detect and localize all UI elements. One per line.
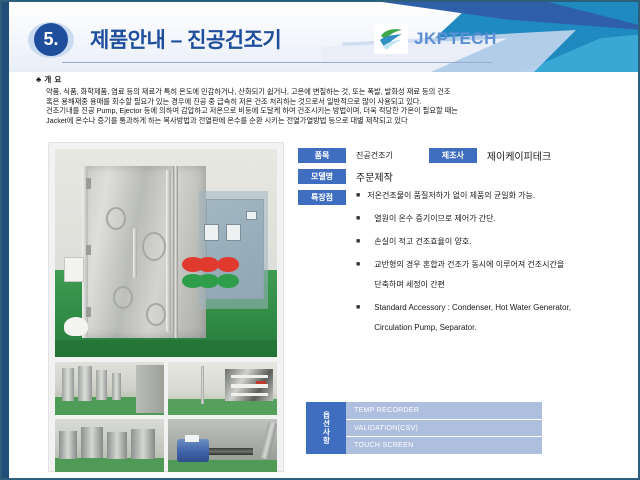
spec-value-item: 진공건조기: [356, 150, 393, 161]
overview-line: Jacket에 온수나 증기를 통과하게 하는 복사방법과 전열판에 온수를 순…: [46, 116, 626, 126]
overview-lines: 약품, 식품, 화학제품, 염료 등의 재료가 특히 온도에 민감하거나, 산화…: [36, 87, 626, 125]
options-vertical-label: 옵션사항: [306, 402, 346, 454]
square-bullet-icon: ■: [356, 190, 360, 201]
square-bullet-icon: ■: [356, 302, 360, 313]
left-accent-strip: [2, 2, 9, 480]
main-product-photo: [55, 149, 277, 357]
feature-text: 교반형의 경우 혼합과 건조가 동시에 이루어져 건조시간을: [374, 260, 564, 269]
page-title: 제품안내 – 진공건조기: [90, 24, 281, 54]
title-underline: [62, 62, 492, 63]
option-row: VALIDATION(CSV): [346, 420, 542, 438]
square-bullet-icon: ■: [356, 259, 360, 270]
feature-item: ■ 손실이 적고 건조효율이 양호.: [356, 236, 571, 247]
feature-text-line2: 단축하며 세정이 간편: [374, 279, 564, 290]
spec-label-features: 특장점: [298, 190, 346, 205]
overview-block: ♣ 개 요 약품, 식품, 화학제품, 염료 등의 재료가 특히 온도에 민감하…: [36, 74, 626, 125]
overview-heading: 개 요: [44, 75, 61, 84]
feature-text: Standard Accessory : Condenser, Hot Wate…: [374, 303, 571, 312]
spec-row-features: 특장점 ■ 저온건조물이 품질저하가 없이 제품의 균일화 가능. ■ 열원이 …: [298, 190, 628, 345]
feature-item: ■ Standard Accessory : Condenser, Hot Wa…: [356, 302, 571, 333]
slide-canvas: 5. 제품안내 – 진공건조기 JKPTECH ♣ 개 요 약품, 식품, 화학…: [0, 0, 640, 480]
feature-text: 손실이 적고 건조효율이 양호.: [374, 237, 471, 246]
overview-line: 건조기내를 진공 Pump, Ejector 등에 의하여 감압하고 저온으로 …: [46, 106, 626, 116]
feature-text: 열원이 온수 증기이므로 제어가 간단.: [374, 214, 496, 223]
spec-row-item: 품목 진공건조기 제조사 제이케이피테크: [298, 148, 628, 163]
feature-list: ■ 저온건조물이 품질저하가 없이 제품의 균일화 가능. ■ 열원이 온수 증…: [356, 190, 571, 345]
logo-wordmark: JKPTECH: [414, 29, 497, 49]
overview-heading-row: ♣ 개 요: [36, 74, 626, 85]
clover-bullet-icon: ♣: [36, 75, 42, 84]
options-label-text: 옵션사항: [321, 411, 331, 445]
feature-item: ■ 교반형의 경우 혼합과 건조가 동시에 이루어져 건조시간을 단축하며 세정…: [356, 259, 571, 290]
option-row: TOUCH SCREEN: [346, 437, 542, 454]
options-table: 옵션사항 TEMP RECORDER VALIDATION(CSV) TOUCH…: [306, 402, 542, 454]
section-number-badge: 5.: [34, 23, 68, 56]
spec-block: 품목 진공건조기 제조사 제이케이피테크 모델명 주문제작 특장점 ■ 저온건조…: [298, 148, 628, 345]
thumbnail-dryer-chamber-interior: [168, 362, 277, 415]
spec-label-maker: 제조사: [429, 148, 477, 163]
spec-row-model: 모델명 주문제작: [298, 169, 628, 184]
thumbnail-blue-vacuum-pump-motor: [168, 419, 277, 472]
feature-text: 저온건조물이 품질저하가 없이 제품의 균일화 가능.: [367, 191, 535, 200]
spec-label-model: 모델명: [298, 169, 346, 184]
thumbnail-machine-room-tanks: [55, 362, 164, 415]
spec-value-maker: 제이케이피테크: [487, 148, 551, 163]
feature-item: ■ 저온건조물이 품질저하가 없이 제품의 균일화 가능.: [356, 190, 571, 201]
spec-value-model: 주문제작: [356, 169, 393, 184]
overview-line: 혹은 용해재중 용매를 회수할 필요가 있는 경우에 진공 중 급속히 저온 건…: [46, 97, 626, 107]
options-rows: TEMP RECORDER VALIDATION(CSV) TOUCH SCRE…: [346, 402, 542, 454]
thumbnail-equipment-line: [55, 419, 164, 472]
thumbnail-grid: [55, 362, 277, 472]
spec-label-item: 품목: [298, 148, 346, 163]
overview-line: 약품, 식품, 화학제품, 염료 등의 재료가 특히 온도에 민감하거나, 산화…: [46, 87, 626, 97]
jkptech-bird-wave-logo-icon: [374, 24, 408, 54]
square-bullet-icon: ■: [356, 236, 360, 247]
photo-panel: [48, 142, 284, 472]
feature-item: ■ 열원이 온수 증기이므로 제어가 간단.: [356, 213, 571, 224]
option-row: TEMP RECORDER: [346, 402, 542, 420]
feature-text-line2: Circulation Pump, Separator.: [374, 322, 571, 333]
square-bullet-icon: ■: [356, 213, 360, 224]
